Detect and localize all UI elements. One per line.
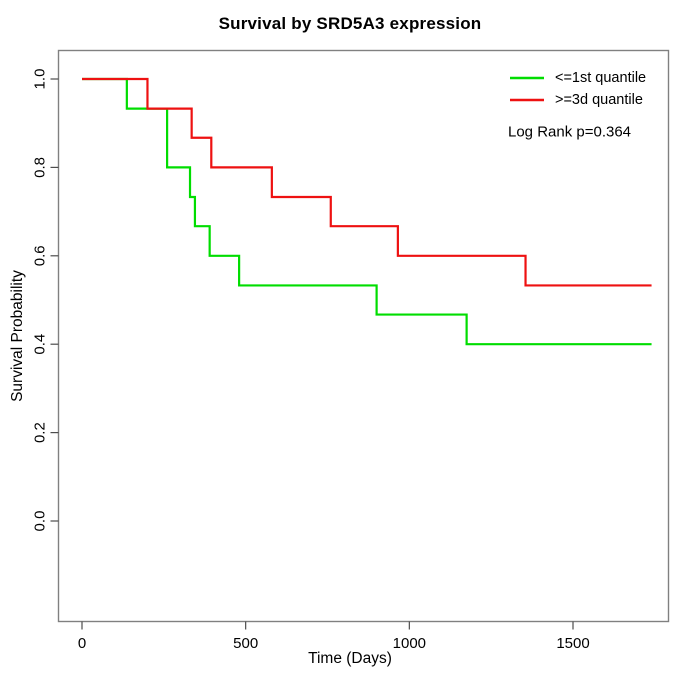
km-curve — [82, 79, 652, 344]
y-axis-ticks: 0.00.20.40.60.81.0 — [32, 69, 59, 532]
km-curves — [82, 79, 652, 344]
x-tick-label: 0 — [78, 635, 86, 652]
y-tick-label: 1.0 — [32, 69, 49, 90]
chart-root: Survival by SRD5A3 expression 0500100015… — [0, 0, 700, 700]
y-tick-label: 0.4 — [32, 334, 49, 355]
x-tick-label: 500 — [233, 635, 258, 652]
x-tick-label: 1500 — [556, 635, 589, 652]
y-tick-label: 0.2 — [32, 422, 49, 443]
y-tick-label: 0.8 — [32, 157, 49, 178]
chart-legend: <=1st quantile>=3d quantileLog Rank p=0.… — [508, 70, 646, 141]
legend-item-label: <=1st quantile — [555, 70, 646, 86]
y-tick-label: 0.6 — [32, 245, 49, 266]
y-tick-label: 0.0 — [32, 511, 49, 532]
x-axis-label: Time (Days) — [308, 650, 392, 667]
x-tick-label: 1000 — [393, 635, 426, 652]
legend-item-label: >=3d quantile — [555, 92, 643, 108]
y-axis-label: Survival Probability — [9, 270, 26, 402]
log-rank-pvalue: Log Rank p=0.364 — [508, 124, 631, 141]
x-axis-ticks: 050010001500 — [78, 622, 590, 653]
survival-plot: 050010001500 0.00.20.40.60.81.0 <=1st qu… — [0, 0, 700, 700]
